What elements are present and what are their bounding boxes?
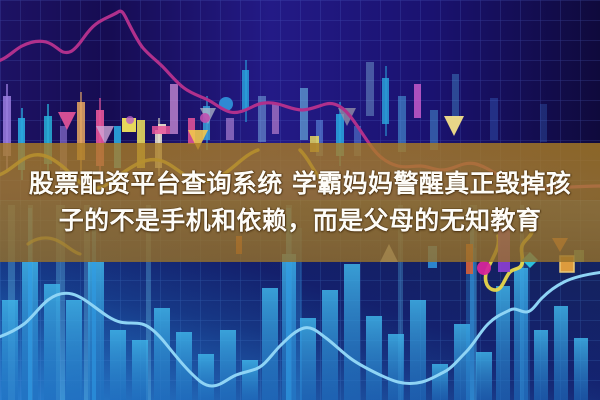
headline-band: 股票配资平台查询系统 学霸妈妈警醒真正毁掉孩 子的不是手机和依赖，而是父母的无知… bbox=[0, 143, 600, 262]
headline-line-2: 子的不是手机和依赖，而是父母的无知教育 bbox=[59, 204, 542, 239]
banner-image: 股票配资平台查询系统 学霸妈妈警醒真正毁掉孩 子的不是手机和依赖，而是父母的无知… bbox=[0, 0, 600, 400]
headline-line-1: 股票配资平台查询系统 学霸妈妈警醒真正毁掉孩 bbox=[29, 167, 572, 202]
